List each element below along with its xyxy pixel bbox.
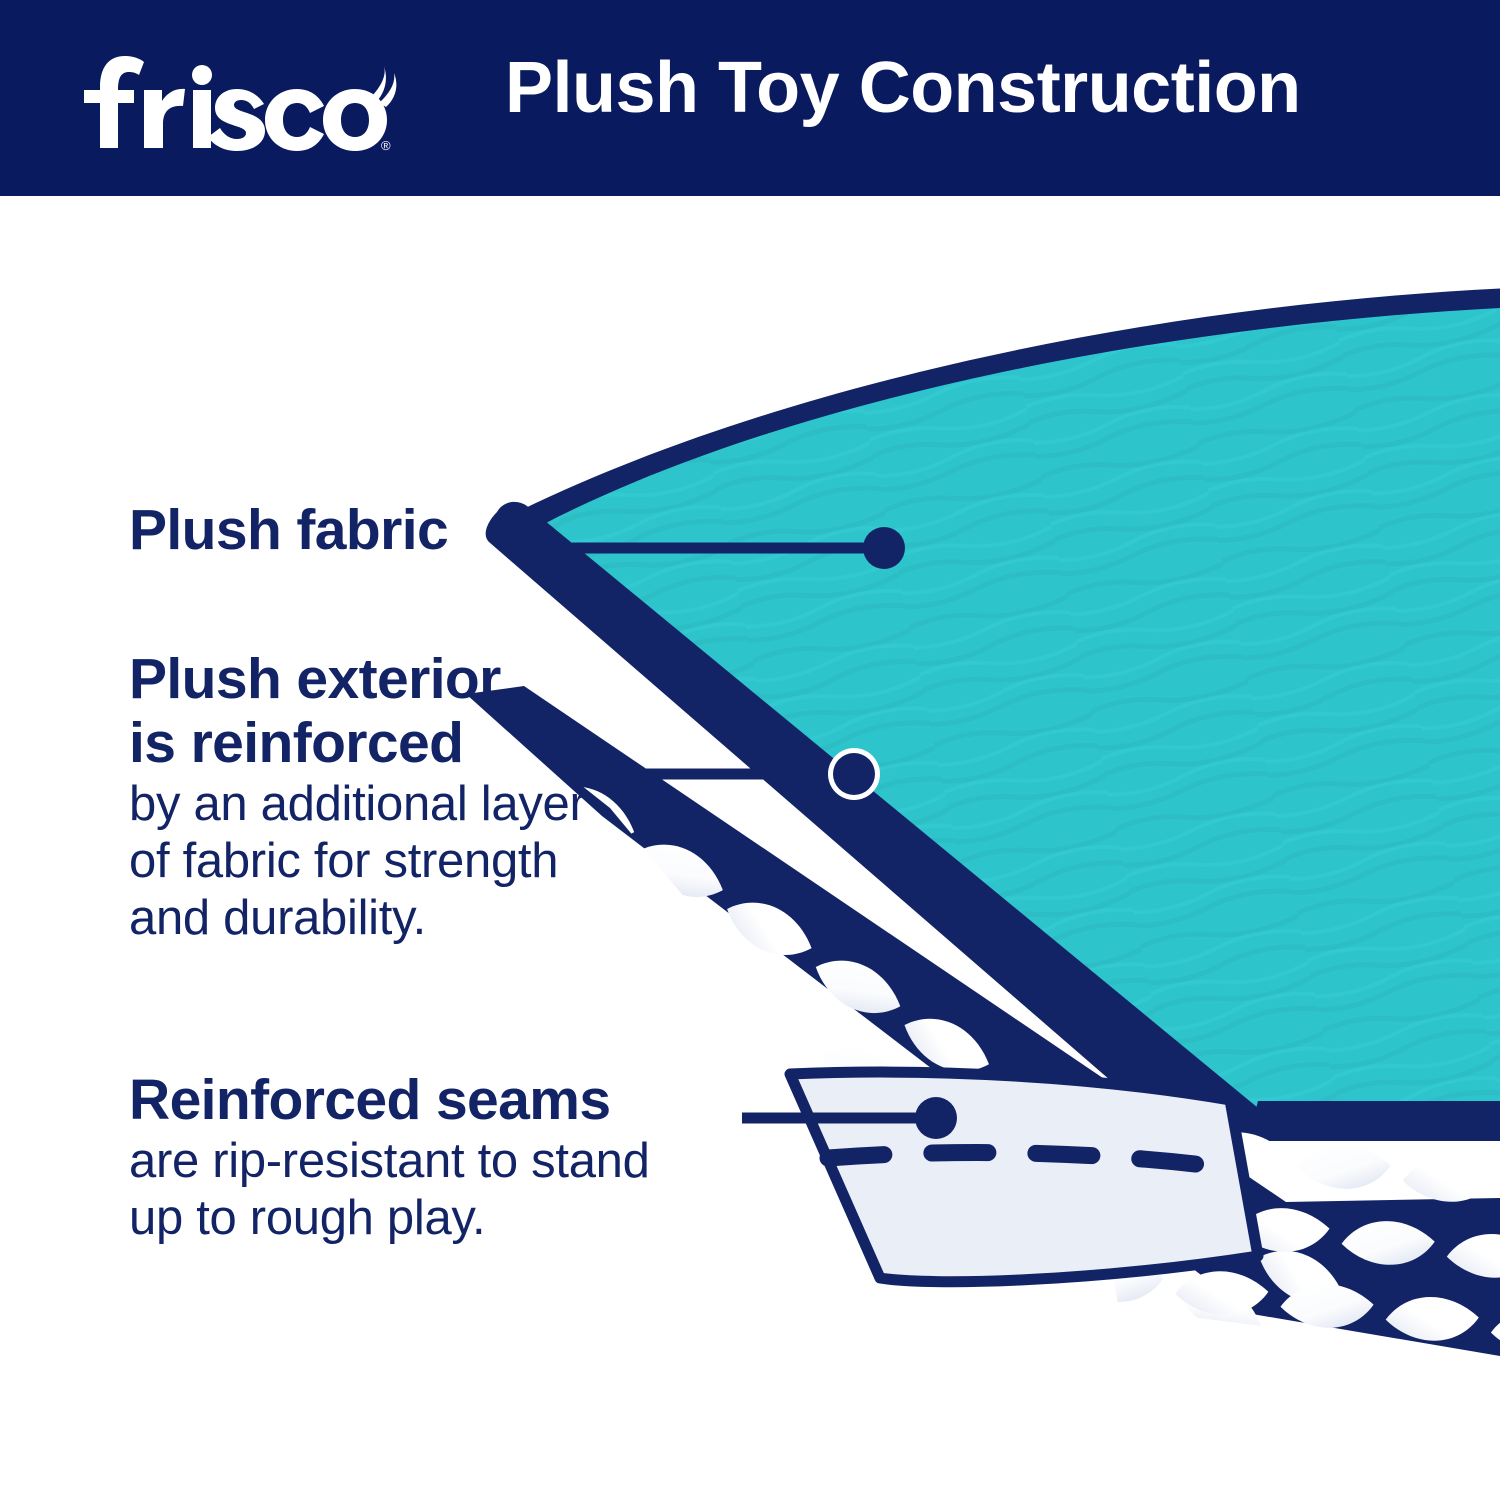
- header-bar: ® Plush Toy Construction: [0, 0, 1500, 196]
- infographic-page: ® Plush Toy Construction: [0, 0, 1500, 1500]
- registered-trademark-symbol: ®: [381, 138, 391, 153]
- frisco-logo: ®: [78, 48, 398, 154]
- page-title: Plush Toy Construction: [505, 52, 1301, 124]
- plush-construction-illustration: [0, 196, 1500, 1500]
- callout-dot-plush-fabric: [863, 527, 905, 569]
- callout-dot-reinforced-seams: [915, 1097, 957, 1139]
- callout-dot-plush-exterior: [833, 753, 875, 795]
- seam-flap: [790, 1072, 1258, 1282]
